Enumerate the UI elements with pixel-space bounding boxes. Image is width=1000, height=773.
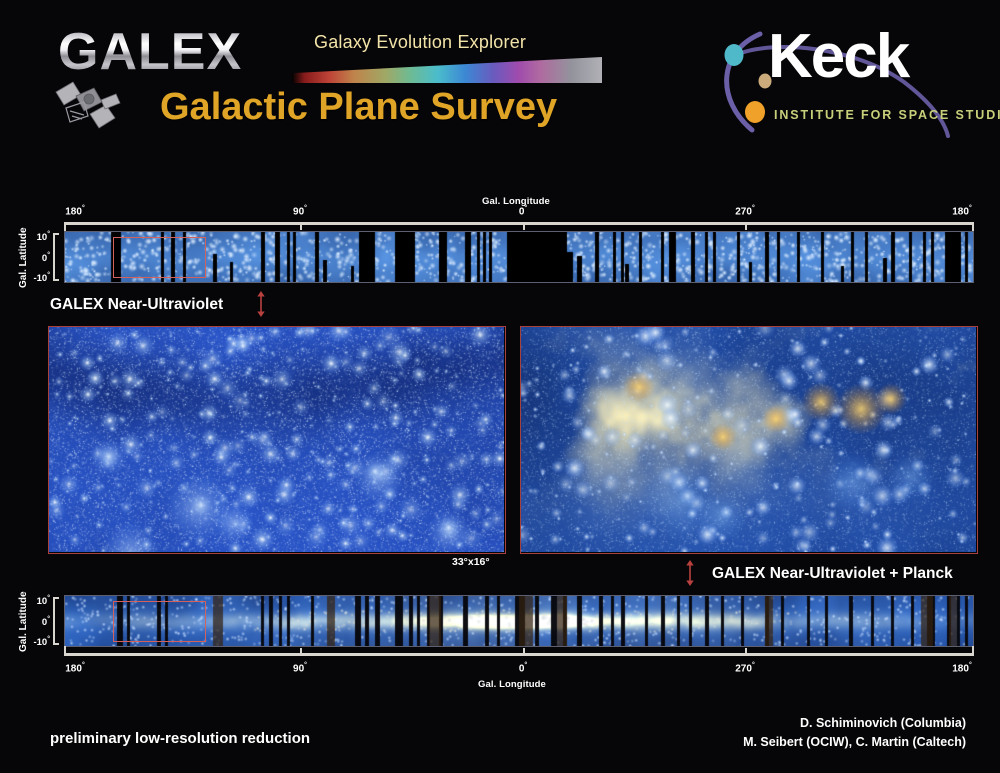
footer-note: preliminary low-resolution reduction bbox=[50, 730, 310, 747]
bottom-axis-tick-270 bbox=[745, 648, 747, 656]
bottom-strip-composite-image bbox=[64, 595, 974, 647]
credit-line-2: M. Seibert (OCIW), C. Martin (Caltech) bbox=[743, 735, 966, 749]
bottom-panel-label: GALEX Near-Ultraviolet + Planck bbox=[712, 565, 953, 583]
galex-galactic-plane-survey-poster: GALEX Galaxy Evolution Explorer Galactic… bbox=[0, 0, 1000, 773]
bottom-axis-tick-90 bbox=[300, 648, 302, 656]
bottom-longitude-axis-title: Gal. Longitude bbox=[478, 679, 546, 690]
up-down-arrow-icon-bottom bbox=[684, 560, 696, 586]
bottom-latitude-bracket bbox=[53, 597, 59, 645]
bottom-lat-tick-neg10: -10° bbox=[18, 636, 50, 648]
bottom-lat-tick-10: 10° bbox=[24, 595, 50, 607]
bottom-axis-tick-0 bbox=[523, 648, 525, 656]
bottom-lon-tick-2: 0° bbox=[519, 662, 527, 674]
bottom-longitude-axis-bar bbox=[64, 653, 974, 656]
bottom-lon-tick-3: 270° bbox=[735, 662, 755, 674]
bottom-strip-figure: GALEX Near-Ultraviolet + Planck Gal. Lat… bbox=[0, 0, 1000, 773]
bottom-lon-tick-4: 180° bbox=[952, 662, 972, 674]
bottom-axis-tick-start bbox=[64, 646, 66, 656]
bottom-lat-tick-0: 0° bbox=[24, 616, 50, 628]
bottom-lon-tick-1: 90° bbox=[293, 662, 307, 674]
bottom-lon-tick-0: 180° bbox=[65, 662, 85, 674]
bottom-axis-tick-end bbox=[972, 646, 974, 656]
credit-line-1: D. Schiminovich (Columbia) bbox=[800, 716, 966, 730]
